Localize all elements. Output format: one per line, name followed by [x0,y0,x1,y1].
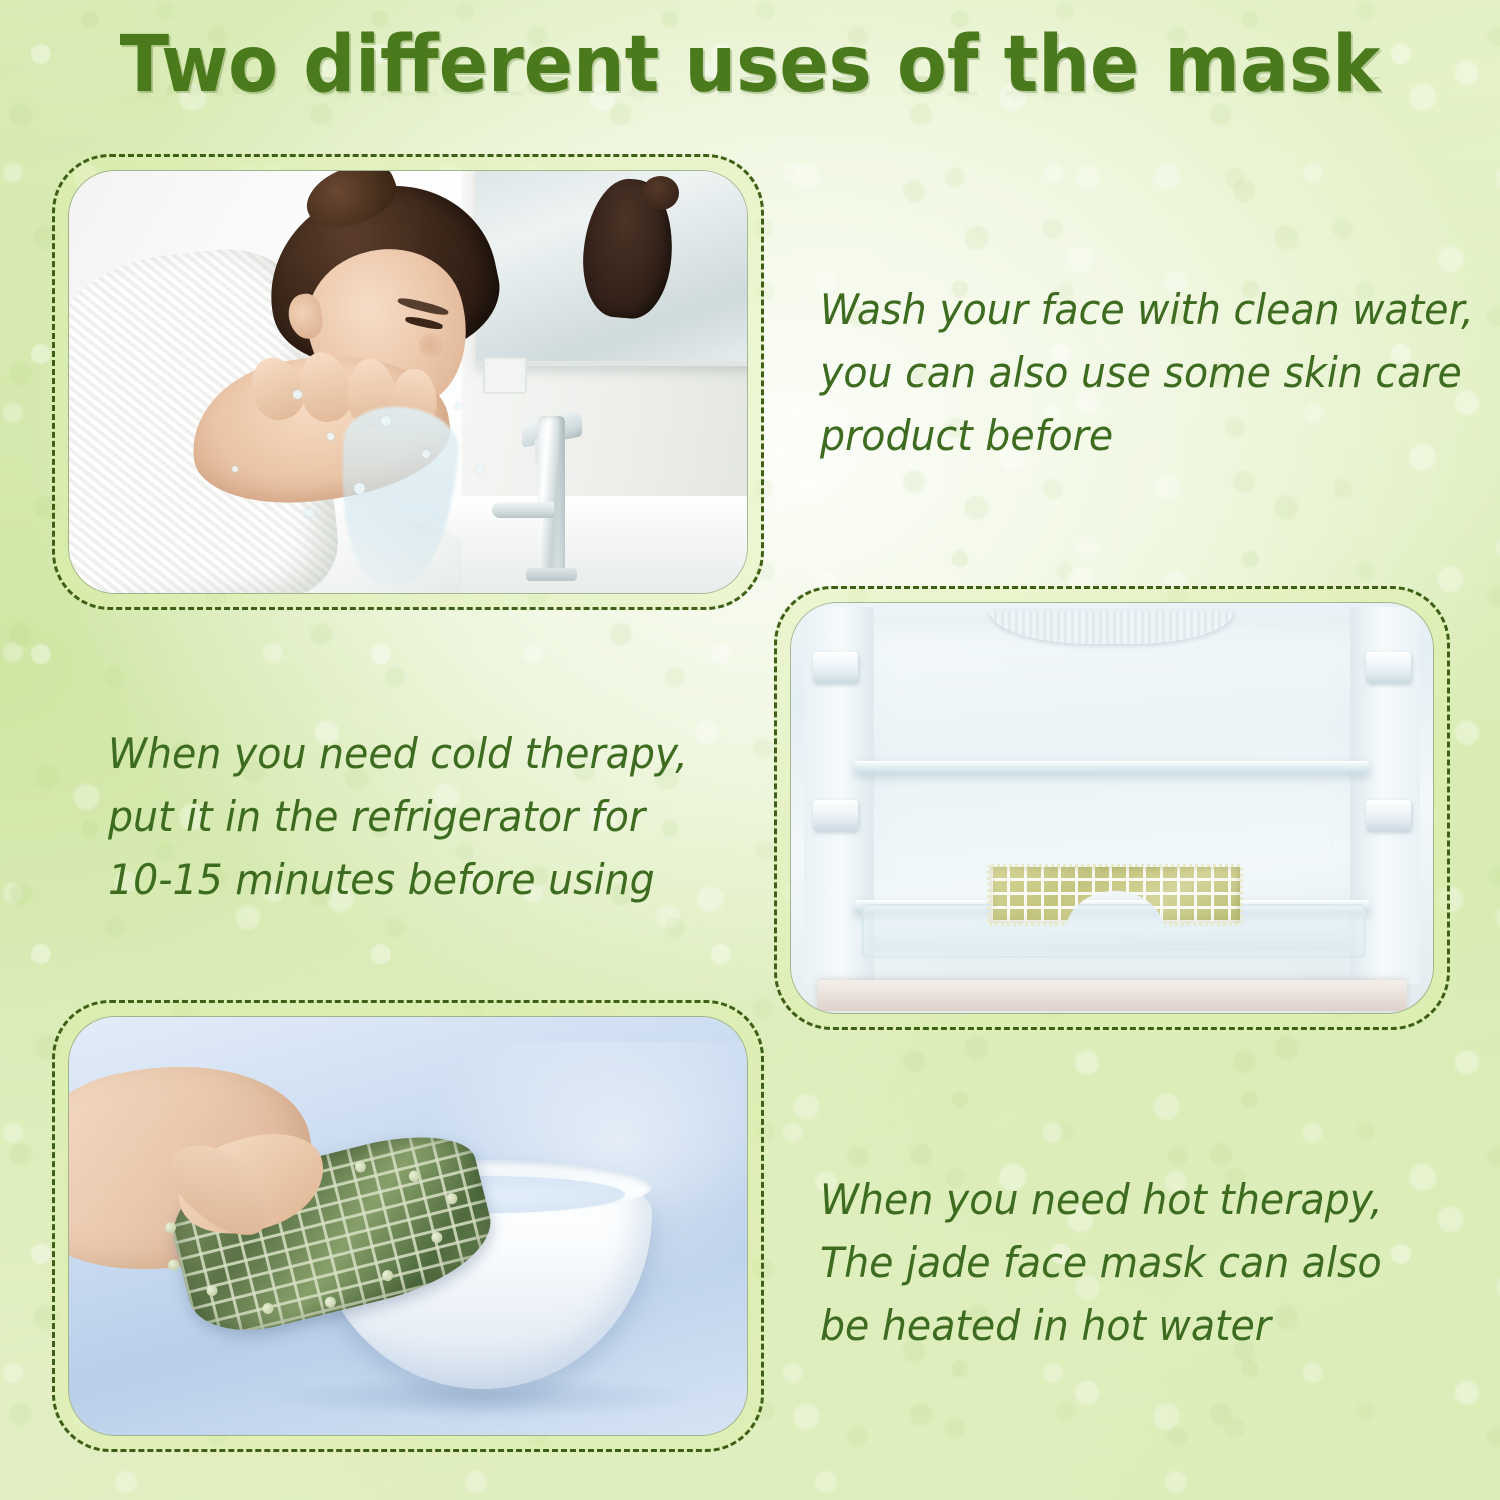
caption-line: The jade face mask can also [820,1231,1440,1294]
caption-line: you can also use some skin care [820,341,1459,404]
infographic-canvas: Two different uses of the mask Two diffe… [0,0,1500,1500]
washing-face-photo [69,171,747,593]
caption-line: When you need cold therapy, [108,722,728,785]
faucet-spout [492,502,554,518]
shelf-bracket [813,652,858,683]
refrigerator-photo [791,603,1433,1013]
bowl-scene [69,1017,747,1435]
page-title-block: Two different uses of the mask Two diffe… [0,26,1500,184]
caption-line: 10-15 minutes before using [108,848,728,911]
faucet [489,416,604,576]
page-title-reflection: Two different uses of the mask [53,71,1448,106]
caption-line: put it in the refrigerator for [108,785,728,848]
caption-hot-therapy: When you need hot therapy, The jade face… [820,1168,1440,1357]
refrigerator-base-drawer [817,980,1408,1011]
water-droplet [354,483,365,494]
caption-line: When you need hot therapy, [820,1168,1440,1231]
jade-bead-trim [987,864,1243,925]
water-droplet [306,509,314,517]
caption-line: product before [820,404,1459,467]
water-droplet [422,450,430,458]
shelf-bracket [1366,800,1411,831]
jade-eye-mask [990,867,1240,922]
washing-face-panel [52,154,764,610]
caption-wash-face: Wash your face with clean water, you can… [820,278,1459,467]
water-droplet [381,416,391,426]
hot-water-bowl-photo [69,1017,747,1435]
nose [419,333,443,358]
hot-water-panel [52,1000,764,1452]
caption-cold-therapy: When you need cold therapy, put it in th… [108,722,728,911]
refrigerator-scene [791,603,1433,1013]
water-droplet [327,433,334,440]
faucet-body [538,416,566,576]
caption-line: be heated in hot water [820,1294,1440,1357]
shelf-bracket [1366,652,1411,683]
shelf-bracket [813,800,858,831]
faucet-base [526,568,577,581]
refrigerator-shelf [855,761,1369,774]
refrigerator-panel [774,586,1450,1030]
caption-line: Wash your face with clean water, [820,278,1459,341]
bathroom-scene [69,171,747,593]
